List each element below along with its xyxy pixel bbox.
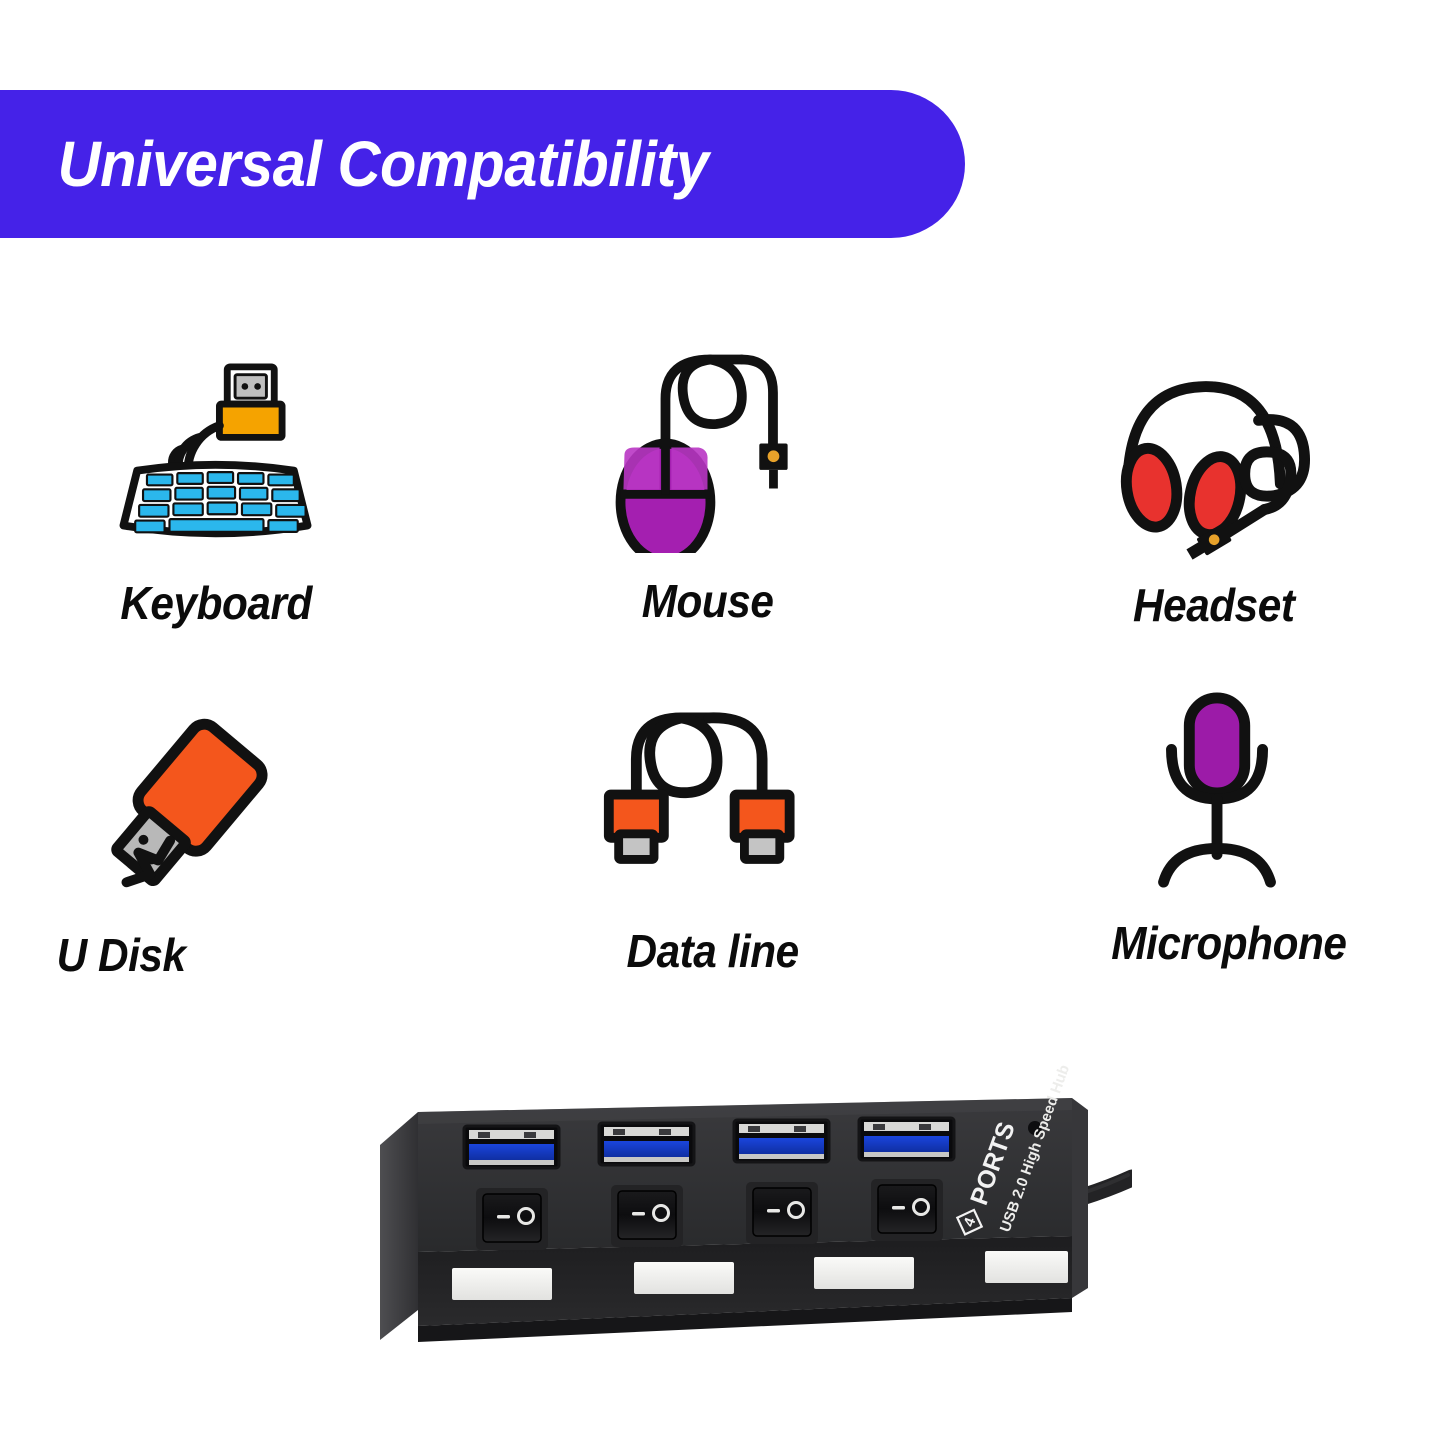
banner-universal-compatibility: Universal Compatibility [0, 90, 965, 238]
compat-item-microphone: Microphone [963, 640, 1445, 980]
wireless-keyboard-icon [91, 340, 341, 570]
led-indicator-1 [452, 1268, 552, 1300]
banner-title: Universal Compatibility [0, 127, 708, 201]
compatibility-grid: Keyboard [0, 300, 1445, 980]
compat-label-mouse: Mouse [642, 574, 774, 628]
power-switch-2 [611, 1185, 683, 1247]
usb-port-4 [859, 1118, 954, 1160]
usb-port-3 [734, 1120, 829, 1162]
usb-port-1 [464, 1126, 559, 1168]
product-usb-hub-photo: 4 PORTS USB 2.0 High Speed Hub [372, 1040, 1132, 1360]
usb-data-cable-icon [587, 682, 837, 912]
power-switch-3 [746, 1182, 818, 1244]
headset-icon [1089, 340, 1339, 570]
compat-item-u-disk: U Disk [0, 640, 482, 980]
power-switch-4 [871, 1179, 943, 1241]
compat-label-headset: Headset [1133, 578, 1294, 632]
infographic-page: Universal Compatibility [0, 0, 1445, 1445]
compat-item-keyboard: Keyboard [0, 300, 482, 640]
compat-label-u-disk: U Disk [56, 928, 185, 982]
microphone-icon [1094, 678, 1344, 908]
compat-label-microphone: Microphone [1112, 916, 1347, 970]
usb-flash-drive-icon [56, 688, 306, 918]
led-indicator-4 [985, 1251, 1068, 1283]
led-indicator-3 [814, 1257, 914, 1289]
computer-mouse-icon [582, 330, 832, 560]
led-indicator-2 [634, 1262, 734, 1294]
compat-item-data-line: Data line [482, 640, 964, 980]
usb-port-2 [599, 1123, 694, 1165]
compat-item-mouse: Mouse [482, 300, 964, 640]
power-switch-1 [476, 1188, 548, 1250]
compat-label-data-line: Data line [626, 924, 798, 978]
compat-label-keyboard: Keyboard [120, 576, 312, 630]
compat-item-headset: Headset [963, 300, 1445, 640]
